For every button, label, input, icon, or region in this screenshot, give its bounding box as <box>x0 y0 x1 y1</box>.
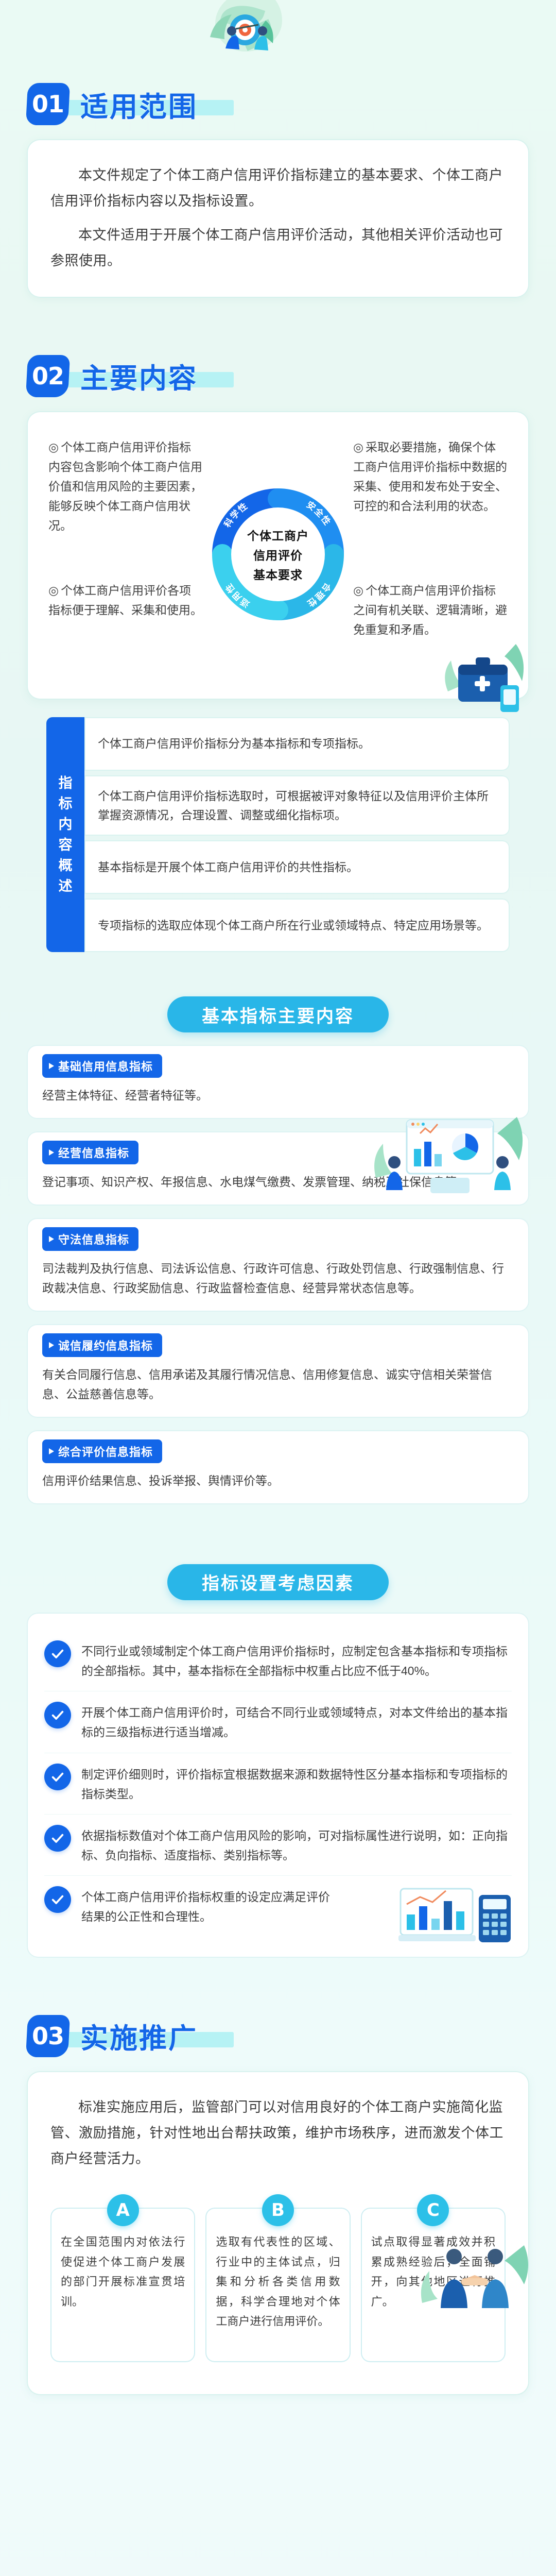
donut-center-label: 个体工商户 信用评价 基本要求 <box>231 507 325 601</box>
donut-center-line-3: 基本要求 <box>253 565 303 583</box>
promotion-badge-c: C <box>417 2194 449 2226</box>
indicator-tag: 基础信用信息指标 <box>42 1054 162 1078</box>
indicator-card: 基础信用信息指标 经营主体特征、经营者特征等。 <box>27 1045 529 1119</box>
donut-center-line-1: 个体工商户 <box>247 526 309 544</box>
settings-factor-text: 个体工商户信用评价指标权重的设定应满足评价结果的公正性和合理性。 <box>81 1886 334 1926</box>
promotion-badge-a: A <box>107 2194 139 2226</box>
section-01-title: 适用范围 <box>80 84 198 125</box>
promotion-card-c: C 试点取得显著成效并积累成熟经验后，全面铺开，向其他地区进行推广。 <box>361 2208 506 2362</box>
promotion-card-c-text: 试点取得显著成效并积累成熟经验后，全面铺开，向其他地区进行推广。 <box>371 2232 495 2312</box>
core-note-top-left-text: 个体工商户信用评价指标内容包含影响个体工商户信用价值和信用风险的主要因素，能够反… <box>48 440 202 532</box>
promotion-badge-b: B <box>262 2194 294 2226</box>
settings-factor-text: 开展个体工商户信用评价时，可结合不同行业或领域特点，对本文件给出的基本指标的三级… <box>81 1702 512 1742</box>
core-note-top-right: ◎采取必要措施，确保个体工商户信用评价指标中数据的采集、使用和发布处于安全、可控… <box>353 438 508 516</box>
check-circle-icon <box>44 1825 71 1852</box>
promotion-card-a: A 在全国范围内对依法行使促进个体工商户发展的部门开展标准宣贯培训。 <box>50 2208 195 2362</box>
section-03-number: 03 <box>26 2015 70 2057</box>
section-02-number: 02 <box>26 355 70 397</box>
indicator-tag-label: 经营信息指标 <box>58 1144 129 1161</box>
section-03-header: 03 实施推广 <box>27 2014 556 2058</box>
indicator-card: 经营信息指标 登记事项、知识产权、年报信息、水电煤气缴费、发票管理、纳税及社保信… <box>27 1131 529 1206</box>
settings-factor-row: 依据指标数值对个体工商户信用风险的影响，可对指标属性进行说明，如：正向指标、负向… <box>44 1814 512 1875</box>
section-01-paragraph-2: 本文件适用于开展个体工商户信用评价活动，其他相关评价活动也可参照使用。 <box>50 223 506 274</box>
indicator-card: 综合评价信息指标 信用评价结果信息、投诉举报、舆情评价等。 <box>27 1430 529 1504</box>
section-03-panel: 标准实施应用后，监管部门可以对信用良好的个体工商户实施简化监管、激励措施，针对性… <box>27 2071 529 2396</box>
settings-factors-panel: 不同行业或领域制定个体工商户信用评价指标时，应制定包含基本指标和专项指标的全部指… <box>27 1613 529 1958</box>
core-note-top-left: ◎个体工商户信用评价指标内容包含影响个体工商户信用价值和信用风险的主要因素，能够… <box>48 438 203 536</box>
indicator-tag: 诚信履约信息指标 <box>42 1333 162 1357</box>
spine-char-5: 述 <box>59 879 73 893</box>
settings-factor-row: 个体工商户信用评价指标权重的设定应满足评价结果的公正性和合理性。 <box>44 1875 512 1937</box>
check-circle-icon <box>44 1764 71 1790</box>
section-03-number-text: 03 <box>32 2022 64 2050</box>
section-01-number-text: 01 <box>32 90 64 118</box>
indicator-overview-rows: 个体工商户信用评价指标分为基本指标和专项指标。 个体工商户信用评价指标选取时，可… <box>84 717 510 953</box>
section-02-number-text: 02 <box>32 362 64 390</box>
section-01-panel: 本文件规定了个体工商户信用评价指标建立的基本要求、个体工商户信用评价指标内容以及… <box>27 139 529 298</box>
settings-factor-text: 制定评价细则时，评价指标宜根据数据来源和数据特性区分基本指标和专项指标的指标类型… <box>81 1764 512 1804</box>
indicator-tag-label: 基础信用信息指标 <box>58 1058 153 1074</box>
settings-factors-title: 指标设置考虑因素 <box>167 1564 389 1600</box>
triangle-right-icon <box>49 1236 54 1242</box>
check-circle-icon <box>44 1702 71 1728</box>
spine-char-2: 内 <box>59 818 73 832</box>
promotion-card-a-text: 在全国范围内对依法行使促进个体工商户发展的部门开展标准宣贯培训。 <box>61 2232 185 2312</box>
spine-char-4: 概 <box>59 859 73 873</box>
indicator-card: 诚信履约信息指标 有关合同履行信息、信用承诺及其履行情况信息、信用修复信息、诚实… <box>27 1324 529 1418</box>
overview-row: 个体工商户信用评价指标分为基本指标和专项指标。 <box>84 717 510 771</box>
section-01-number: 01 <box>26 83 70 125</box>
promotion-cards: A 在全国范围内对依法行使促进个体工商户发展的部门开展标准宣贯培训。 B 选取有… <box>50 2208 506 2362</box>
promotion-card-b: B 选取有代表性的区域、行业中的主体试点，归集和分析各类信用数据，科学合理地对个… <box>205 2208 350 2362</box>
triangle-right-icon <box>49 1342 54 1348</box>
core-note-bottom-right-text: 个体工商户信用评价指标之间有机关联、逻辑清晰，避免重复和矛盾。 <box>353 584 507 636</box>
settings-factor-row: 不同行业或领域制定个体工商户信用评价指标时，应制定包含基本指标和专项指标的全部指… <box>44 1630 512 1691</box>
core-note-top-right-text: 采取必要措施，确保个体工商户信用评价指标中数据的采集、使用和发布处于安全、可控的… <box>353 440 507 513</box>
indicator-overview-spine: 指 标 内 容 概 述 <box>46 717 84 953</box>
indicator-tag-label: 守法信息指标 <box>58 1231 129 1247</box>
section-01-paragraph-1: 本文件规定了个体工商户信用评价指标建立的基本要求、个体工商户信用评价指标内容以及… <box>50 163 506 214</box>
overview-row: 专项指标的选取应体现个体工商户所在行业或领域特点、特定应用场景等。 <box>84 899 510 952</box>
indicator-tag-label: 诚信履约信息指标 <box>58 1337 153 1353</box>
basic-indicators-title: 基本指标主要内容 <box>167 996 389 1032</box>
overview-row: 个体工商户信用评价指标选取时，可根据被评对象特征以及信用评价主体所掌握资源情况，… <box>84 775 510 836</box>
core-note-bottom-left: ◎个体工商户信用评价各项指标便于理解、采集和使用。 <box>48 581 203 620</box>
section-02-header: 02 主要内容 <box>27 354 556 398</box>
check-circle-icon <box>44 1640 71 1667</box>
triangle-right-icon <box>49 1149 54 1156</box>
settings-factor-row: 制定评价细则时，评价指标宜根据数据来源和数据特性区分基本指标和专项指标的指标类型… <box>44 1753 512 1814</box>
indicator-card: 守法信息指标 司法裁判及执行信息、司法诉讼信息、行政许可信息、行政处罚信息、行政… <box>27 1218 529 1312</box>
core-requirements-panel: ◎个体工商户信用评价指标内容包含影响个体工商户信用价值和信用风险的主要因素，能够… <box>27 411 529 700</box>
indicator-body: 信用评价结果信息、投诉举报、舆情评价等。 <box>42 1471 514 1491</box>
core-note-bottom-right: ◎个体工商户信用评价指标之间有机关联、逻辑清晰，避免重复和矛盾。 <box>353 581 508 640</box>
indicator-overview-block: 指 标 内 容 概 述 个体工商户信用评价指标分为基本指标和专项指标。 个体工商… <box>46 717 510 953</box>
triangle-right-icon <box>49 1063 54 1069</box>
section-03-paragraph-1: 标准实施应用后，监管部门可以对信用良好的个体工商户实施简化监管、激励措施，针对性… <box>50 2095 506 2172</box>
core-note-bottom-left-text: 个体工商户信用评价各项指标便于理解、采集和使用。 <box>48 584 202 617</box>
settings-factor-row: 开展个体工商户信用评价时，可结合不同行业或领域特点，对本文件给出的基本指标的三级… <box>44 1691 512 1752</box>
section-01-header: 01 适用范围 <box>27 82 556 126</box>
indicator-body: 司法裁判及执行信息、司法诉讼信息、行政许可信息、行政处罚信息、行政强制信息、行政… <box>42 1259 514 1298</box>
indicator-body: 有关合同履行信息、信用承诺及其履行情况信息、信用修复信息、诚实守信相关荣誉信息、… <box>42 1365 514 1404</box>
spine-char-1: 标 <box>59 797 73 811</box>
overview-row: 基本指标是开展个体工商户信用评价的共性指标。 <box>84 840 510 894</box>
check-circle-icon <box>44 1886 71 1913</box>
indicator-tag: 综合评价信息指标 <box>42 1439 162 1463</box>
indicator-body: 登记事项、知识产权、年报信息、水电煤气缴费、发票管理、纳税及社保信息等。 <box>42 1173 514 1192</box>
spine-char-3: 容 <box>59 838 73 852</box>
section-02-title: 主要内容 <box>80 355 198 396</box>
settings-factor-text: 不同行业或领域制定个体工商户信用评价指标时，应制定包含基本指标和专项指标的全部指… <box>81 1640 512 1681</box>
settings-factor-text: 依据指标数值对个体工商户信用风险的影响，可对指标属性进行说明，如：正向指标、负向… <box>81 1825 512 1865</box>
indicator-tag: 经营信息指标 <box>42 1141 138 1164</box>
core-requirements-donut-chart: 科学性 安全性 合理性 适用性 个体工商户 信用评价 基本要求 <box>201 477 355 632</box>
indicator-tag-label: 综合评价信息指标 <box>58 1443 153 1460</box>
indicator-body: 经营主体特征、经营者特征等。 <box>42 1086 302 1106</box>
note-bullet-icon: ◎ <box>48 584 59 597</box>
promotion-card-b-text: 选取有代表性的区域、行业中的主体试点，归集和分析各类信用数据，科学合理地对个体工… <box>216 2232 340 2332</box>
note-bullet-icon: ◎ <box>353 440 363 454</box>
spine-char-0: 指 <box>59 776 73 790</box>
section-03-title: 实施推广 <box>80 2015 198 2056</box>
indicator-tag: 守法信息指标 <box>42 1227 138 1251</box>
donut-center-line-2: 信用评价 <box>253 546 303 563</box>
note-bullet-icon: ◎ <box>48 440 59 454</box>
triangle-right-icon <box>49 1448 54 1454</box>
